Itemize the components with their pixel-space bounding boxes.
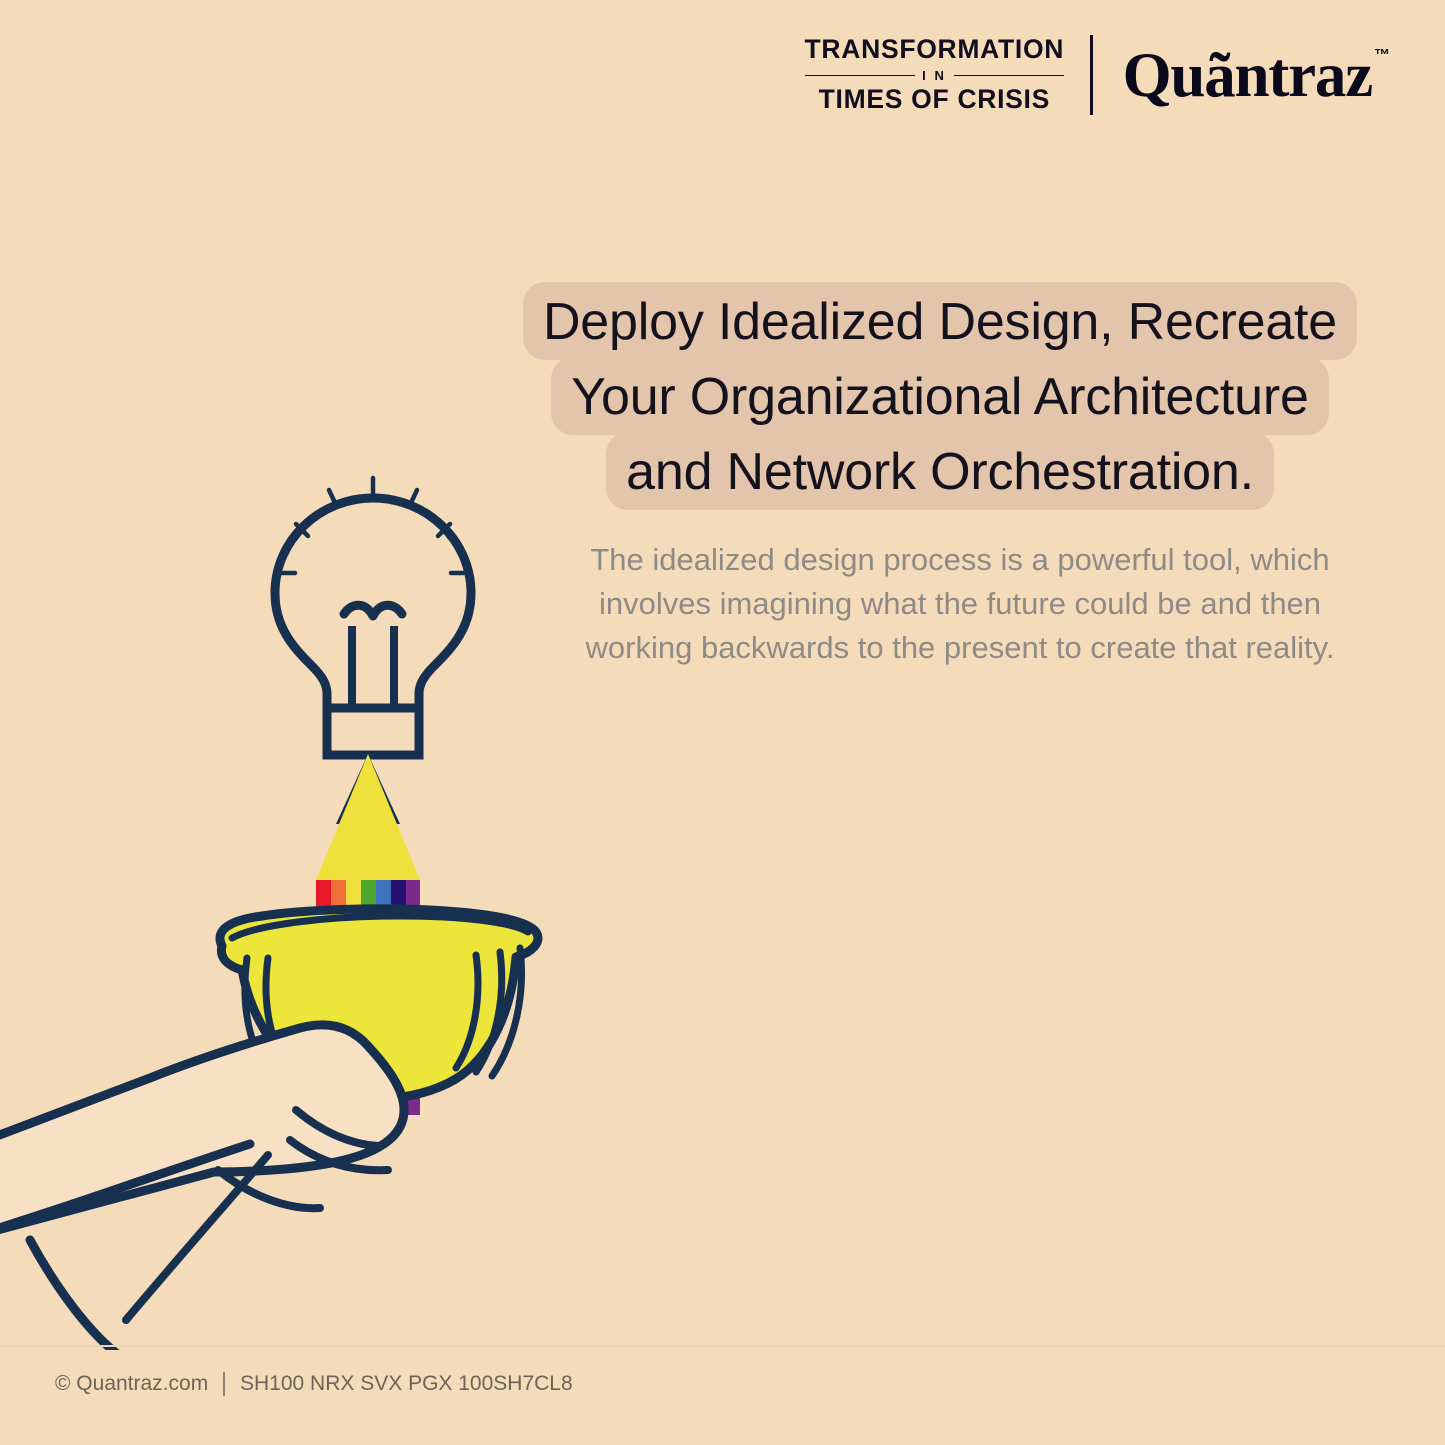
tagline-middle-text: I N — [922, 68, 946, 83]
tagline-line-2: TIMES OF CRISIS — [819, 85, 1050, 115]
lightbulb-base-icon — [327, 708, 419, 755]
footer-bar: © Quantraz.com SH100 NRX SVX PGX 100SH7C… — [55, 1372, 573, 1396]
tagline-line-1: TRANSFORMATION — [805, 35, 1065, 65]
trademark-icon: ™ — [1374, 48, 1390, 64]
quantraz-logo: Quãntraz ™ — [1123, 44, 1390, 107]
lightbulb-glass-icon — [275, 498, 471, 708]
footer-copyright: © Quantraz.com — [55, 1372, 208, 1396]
lightbulb-filament-icon — [344, 605, 402, 616]
illustration-svg — [0, 450, 620, 1350]
hero-illustration — [0, 450, 620, 1350]
campaign-tagline: TRANSFORMATION I N TIMES OF CRISIS — [805, 35, 1091, 114]
footer-divider — [0, 1345, 1445, 1347]
headline-line-2: Your Organizational Architecture — [551, 357, 1328, 435]
tagline-middle-row: I N — [805, 68, 1065, 83]
pencil-wood-cone — [316, 754, 420, 880]
poster-canvas: TRANSFORMATION I N TIMES OF CRISIS Quãnt… — [0, 0, 1445, 1445]
body-paragraph: The idealized design process is a powerf… — [580, 538, 1340, 670]
footer-separator — [223, 1372, 225, 1396]
tagline-rule-left — [805, 75, 916, 77]
headline-line-3: and Network Orchestration. — [606, 432, 1274, 510]
sleeve-cuff-line — [30, 1240, 120, 1350]
logo-wordmark: Quãntraz — [1123, 44, 1372, 107]
tagline-rule-right — [954, 75, 1065, 77]
brand-divider — [1090, 35, 1093, 115]
headline-line-1: Deploy Idealized Design, Recreate — [523, 282, 1357, 360]
brand-header: TRANSFORMATION I N TIMES OF CRISIS Quãnt… — [805, 30, 1390, 120]
footer-code: SH100 NRX SVX PGX 100SH7CL8 — [240, 1372, 573, 1396]
